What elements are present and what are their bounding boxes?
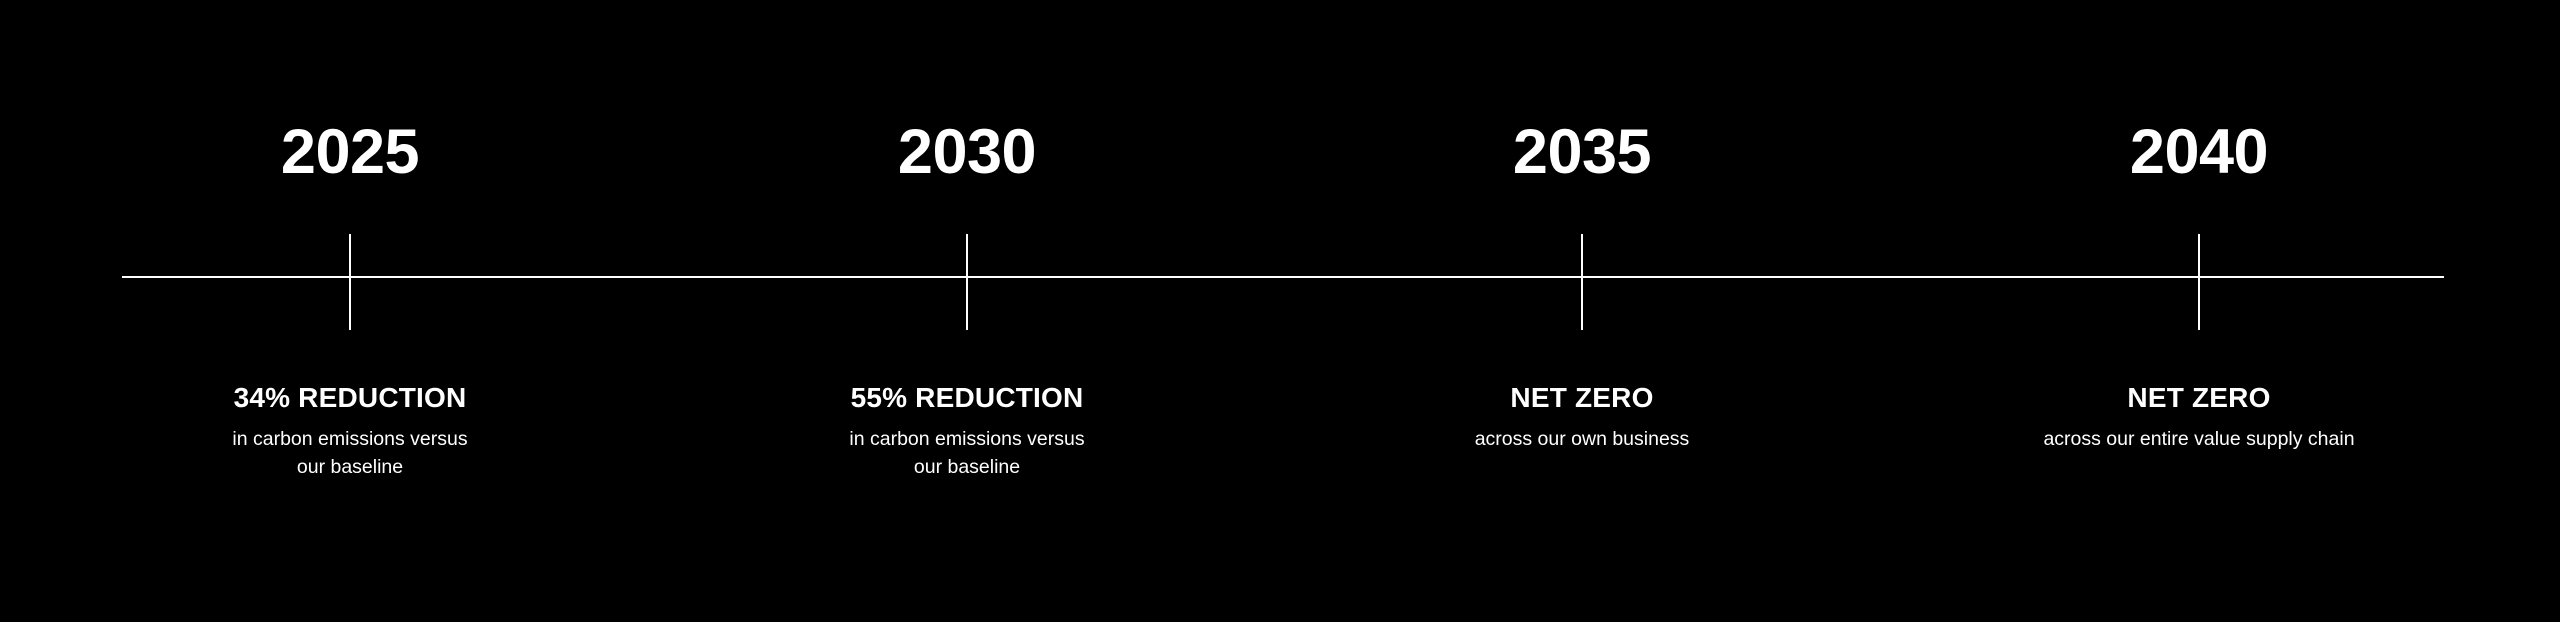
year-label-2040: 2040 (1919, 120, 2479, 184)
year-label-2025: 2025 (70, 120, 630, 184)
caption-heading-2030: 55% REDUCTION (687, 382, 1247, 413)
caption-heading-2040: NET ZERO (1919, 382, 2479, 413)
caption-block-2025: 34% REDUCTION in carbon emissions versus… (70, 382, 630, 482)
caption-subtitle-2025: in carbon emissions versusour baseline (70, 426, 630, 481)
caption-heading-2025: 34% REDUCTION (70, 382, 630, 413)
caption-subtitle-2035: across our own business (1302, 426, 1862, 454)
caption-block-2030: 55% REDUCTION in carbon emissions versus… (687, 382, 1247, 482)
year-label-2030: 2030 (687, 120, 1247, 184)
caption-subtitle-2030: in carbon emissions versusour baseline (687, 426, 1247, 481)
caption-block-2040: NET ZERO across our entire value supply … (1919, 382, 2479, 454)
timeline-tick-2025 (349, 234, 351, 330)
caption-heading-2035: NET ZERO (1302, 382, 1862, 413)
carbon-targets-timeline: 2025 34% REDUCTION in carbon emissions v… (0, 0, 2560, 622)
year-label-2035: 2035 (1302, 120, 1862, 184)
caption-subtitle-2040: across our entire value supply chain (1919, 426, 2479, 454)
timeline-tick-2030 (966, 234, 968, 330)
timeline-axis-line (122, 276, 2444, 278)
timeline-tick-2035 (1581, 234, 1583, 330)
caption-block-2035: NET ZERO across our own business (1302, 382, 1862, 454)
timeline-tick-2040 (2198, 234, 2200, 330)
